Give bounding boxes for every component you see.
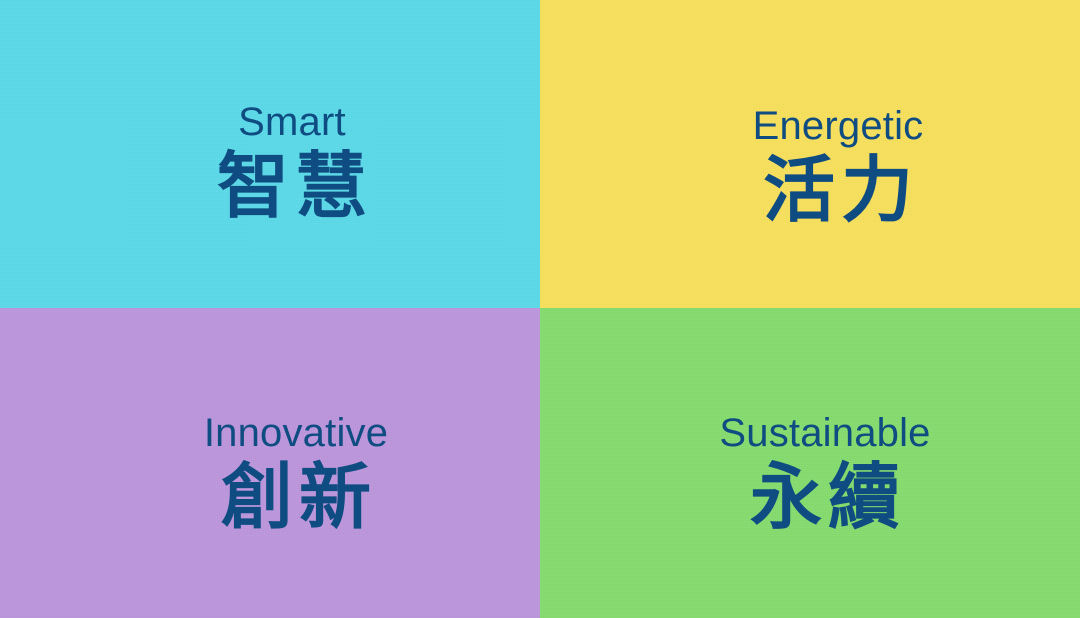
- quadrant-smart-label-zh: 智慧: [211, 147, 373, 228]
- quadrant-energetic[interactable]: Energetic 活力: [540, 0, 1080, 308]
- quadrant-energetic-label-zh: 活力: [753, 151, 924, 232]
- quadrant-innovative-label-en: Innovative: [204, 412, 388, 454]
- quadrant-innovative-label-zh: 創新: [204, 458, 388, 539]
- quadrant-sustainable[interactable]: Sustainable 永續: [540, 308, 1080, 618]
- quadrant-smart[interactable]: Smart 智慧: [0, 0, 540, 308]
- quadrant-smart-text-block: Smart 智慧: [211, 101, 373, 228]
- quadrant-energetic-text-block: Energetic 活力: [753, 105, 924, 232]
- quadrant-innovative-text-block: Innovative 創新: [204, 412, 388, 539]
- quadrant-sustainable-text-block: Sustainable 永續: [719, 412, 930, 539]
- quadrant-innovative[interactable]: Innovative 創新: [0, 308, 540, 618]
- quadrant-sustainable-label-zh: 永續: [719, 458, 930, 539]
- quadrant-smart-label-en: Smart: [211, 101, 373, 143]
- quadrant-energetic-label-en: Energetic: [753, 105, 924, 147]
- quadrant-grid: Smart 智慧 Energetic 活力 Innovative 創新 Sust…: [0, 0, 1080, 618]
- quadrant-sustainable-label-en: Sustainable: [719, 412, 930, 454]
